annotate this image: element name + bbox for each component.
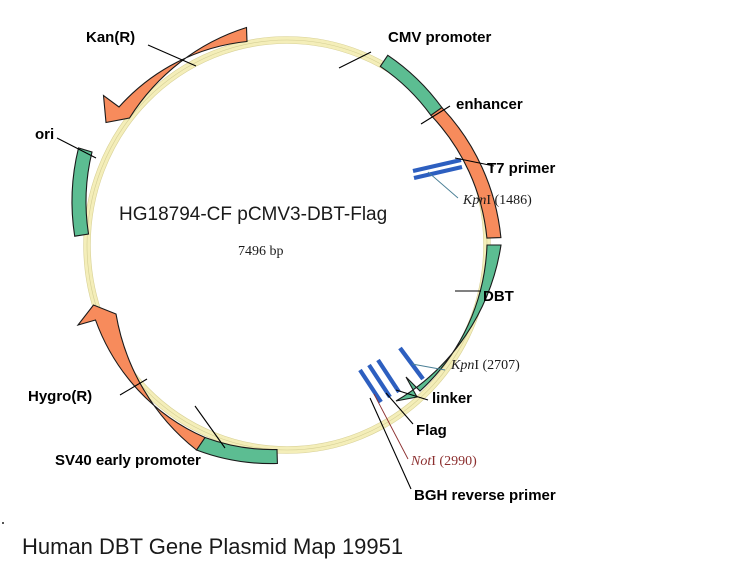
label-dbt[interactable]: DBT <box>483 288 514 305</box>
plasmid-size: 7496 bp <box>238 244 284 260</box>
marker-t7-primer[interactable] <box>413 160 462 178</box>
marker-kpni-2707[interactable] <box>400 348 423 379</box>
kpni-2707-enzyme-italic: Kpn <box>451 358 474 373</box>
label-cmv-promoter[interactable]: CMV promoter <box>388 29 491 46</box>
kpni-2707-enzyme-roman: I <box>474 358 479 373</box>
plasmid-map-canvas: Kan(R) CMV promoter enhancer T7 primer o… <box>0 0 744 581</box>
noti-2990-enzyme-italic: Not <box>411 454 431 469</box>
label-linker[interactable]: linker <box>432 390 472 407</box>
label-kan-r[interactable]: Kan(R) <box>86 29 135 46</box>
plasmid-diagram <box>0 0 744 581</box>
kpni-1486-position: (1486) <box>495 193 532 208</box>
label-kpni-1486[interactable]: KpnI (1486) <box>463 193 532 209</box>
label-kpni-2707[interactable]: KpnI (2707) <box>451 358 520 374</box>
site-leader-lines <box>412 172 458 370</box>
leader-kpni-1486 <box>428 172 458 198</box>
label-enhancer[interactable]: enhancer <box>456 96 523 113</box>
kpni-1486-enzyme-roman: I <box>486 193 491 208</box>
artifact-dot <box>2 522 4 524</box>
noti-2990-position: (2990) <box>439 454 476 469</box>
figure-caption: Human DBT Gene Plasmid Map 19951 <box>22 534 403 560</box>
feature-dbt[interactable] <box>396 245 501 401</box>
label-flag[interactable]: Flag <box>416 422 447 439</box>
label-noti-2990[interactable]: NotI (2990) <box>411 454 477 470</box>
feature-cmv-promoter[interactable] <box>380 55 442 115</box>
label-t7-primer[interactable]: T7 primer <box>487 160 555 177</box>
kpni-2707-position: (2707) <box>483 358 520 373</box>
label-ori[interactable]: ori <box>35 126 54 143</box>
plasmid-name: HG18794-CF pCMV3-DBT-Flag <box>119 204 387 226</box>
label-bgh-reverse-primer[interactable]: BGH reverse primer <box>414 487 556 504</box>
feature-hygro-r[interactable] <box>78 305 205 450</box>
label-hygro-r[interactable]: Hygro(R) <box>28 388 92 405</box>
noti-2990-enzyme-roman: I <box>431 454 436 469</box>
kpni-1486-enzyme-italic: Kpn <box>463 193 486 208</box>
label-sv40-early-promoter[interactable]: SV40 early promoter <box>55 452 201 469</box>
